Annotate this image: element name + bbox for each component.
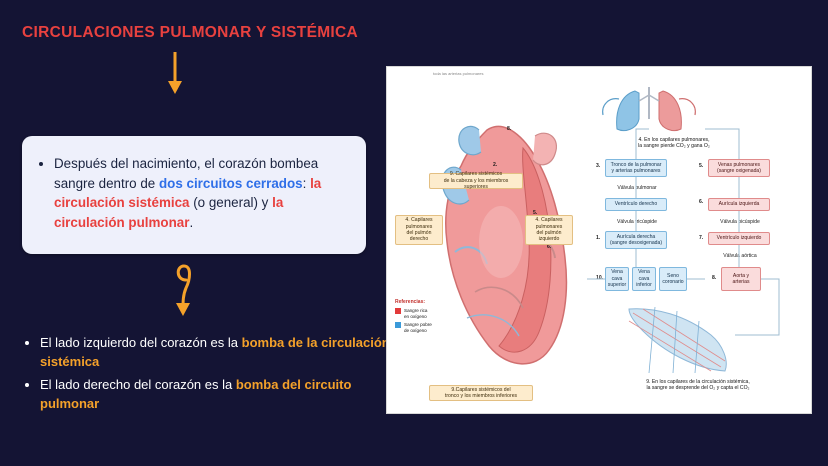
callout-box: Después del nacimiento, el corazón bombe… (22, 136, 366, 254)
callout-text: Después del nacimiento, el corazón bombe… (54, 154, 350, 232)
list-item: El lado izquierdo del corazón es la bomb… (40, 334, 402, 371)
circulation-diagram: toda las arterias pulmonares 4. En los c… (386, 66, 812, 414)
bottom-bullets: El lado izquierdo del corazón es la bomb… (22, 334, 402, 418)
curly-arrow-down-icon (170, 258, 220, 318)
diagram-connectors (387, 67, 811, 413)
list-item: El lado derecho del corazón es la bomba … (40, 376, 402, 413)
arrow-down-icon (160, 52, 190, 96)
slide: CIRCULACIONES PULMONAR Y SISTÉMICA Despu… (0, 0, 828, 466)
page-title: CIRCULACIONES PULMONAR Y SISTÉMICA (22, 24, 358, 42)
